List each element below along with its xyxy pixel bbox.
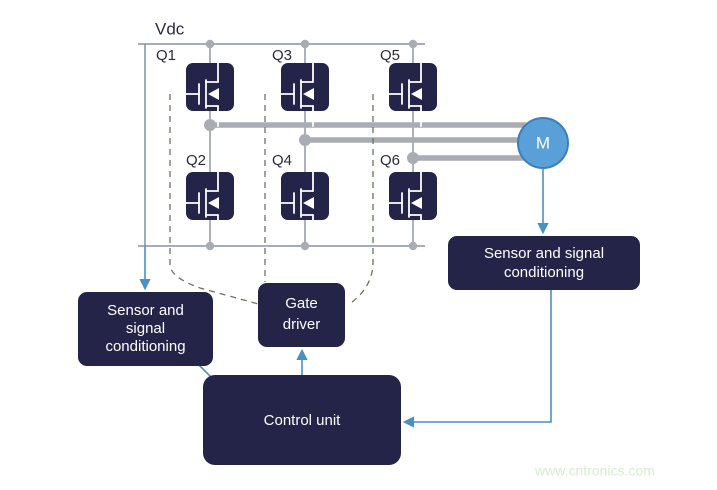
mosfet-body — [186, 172, 234, 220]
phase-tap-dot-u — [204, 119, 216, 131]
phase-output-wires — [204, 119, 525, 164]
mosfet-label-q2: Q2 — [186, 152, 206, 169]
mosfet-body — [281, 172, 329, 220]
mosfet-body — [281, 63, 329, 111]
block-label-line-3: conditioning — [105, 338, 185, 355]
junction-dot — [409, 242, 417, 250]
mosfet-body — [389, 63, 437, 111]
junction-dot — [206, 242, 214, 250]
diagram-canvas: Q1 Q3 — [0, 0, 717, 490]
phase-tap-dot-w — [407, 152, 419, 164]
mosfet-q6[interactable]: Q6 — [373, 152, 437, 235]
vdc-label: Vdc — [155, 19, 185, 38]
motor[interactable]: M — [518, 118, 568, 168]
block-label-line-2: conditioning — [504, 264, 584, 281]
mosfet-q2[interactable]: Q2 — [170, 152, 234, 235]
junction-dot — [301, 242, 309, 250]
mosfet-label-q3: Q3 — [272, 47, 292, 64]
arrow-sensor-right-to-control — [405, 290, 551, 422]
mosfet-q5[interactable]: Q5 — [373, 47, 437, 126]
mosfet-body — [389, 172, 437, 220]
watermark: www.cntronics.com — [534, 463, 655, 479]
junction-dot — [301, 40, 309, 48]
junction-dot — [409, 40, 417, 48]
block-label-line-1: Sensor and signal — [484, 245, 604, 262]
sensor-and-signal-conditioning-left[interactable]: Sensor and signal conditioning — [78, 292, 213, 366]
mosfet-q3[interactable]: Q3 — [265, 47, 329, 126]
mosfet-label-q5: Q5 — [380, 47, 400, 64]
mosfet-q4[interactable]: Q4 — [265, 152, 329, 235]
block-label-line-1: Control unit — [264, 412, 342, 429]
block-label-line-2: driver — [283, 316, 321, 333]
motor-label: M — [536, 133, 550, 152]
mosfet-label-q1: Q1 — [156, 47, 176, 64]
mosfet-q1[interactable]: Q1 — [156, 47, 234, 126]
block-label-line-2: signal — [126, 320, 165, 337]
block-label-line-1: Gate — [285, 295, 318, 312]
control-unit[interactable]: Control unit — [203, 375, 401, 465]
block-label-line-1: Sensor and — [107, 302, 184, 319]
mosfet-label-q6: Q6 — [380, 152, 400, 169]
phase-tap-dot-v — [299, 134, 311, 146]
gate-driver[interactable]: Gate driver — [258, 283, 345, 347]
sensor-and-signal-conditioning-right[interactable]: Sensor and signal conditioning — [448, 236, 640, 290]
junction-dot — [206, 40, 214, 48]
mosfet-body — [186, 63, 234, 111]
mosfet-label-q4: Q4 — [272, 152, 292, 169]
block-diagram-svg: Q1 Q3 — [0, 0, 717, 490]
